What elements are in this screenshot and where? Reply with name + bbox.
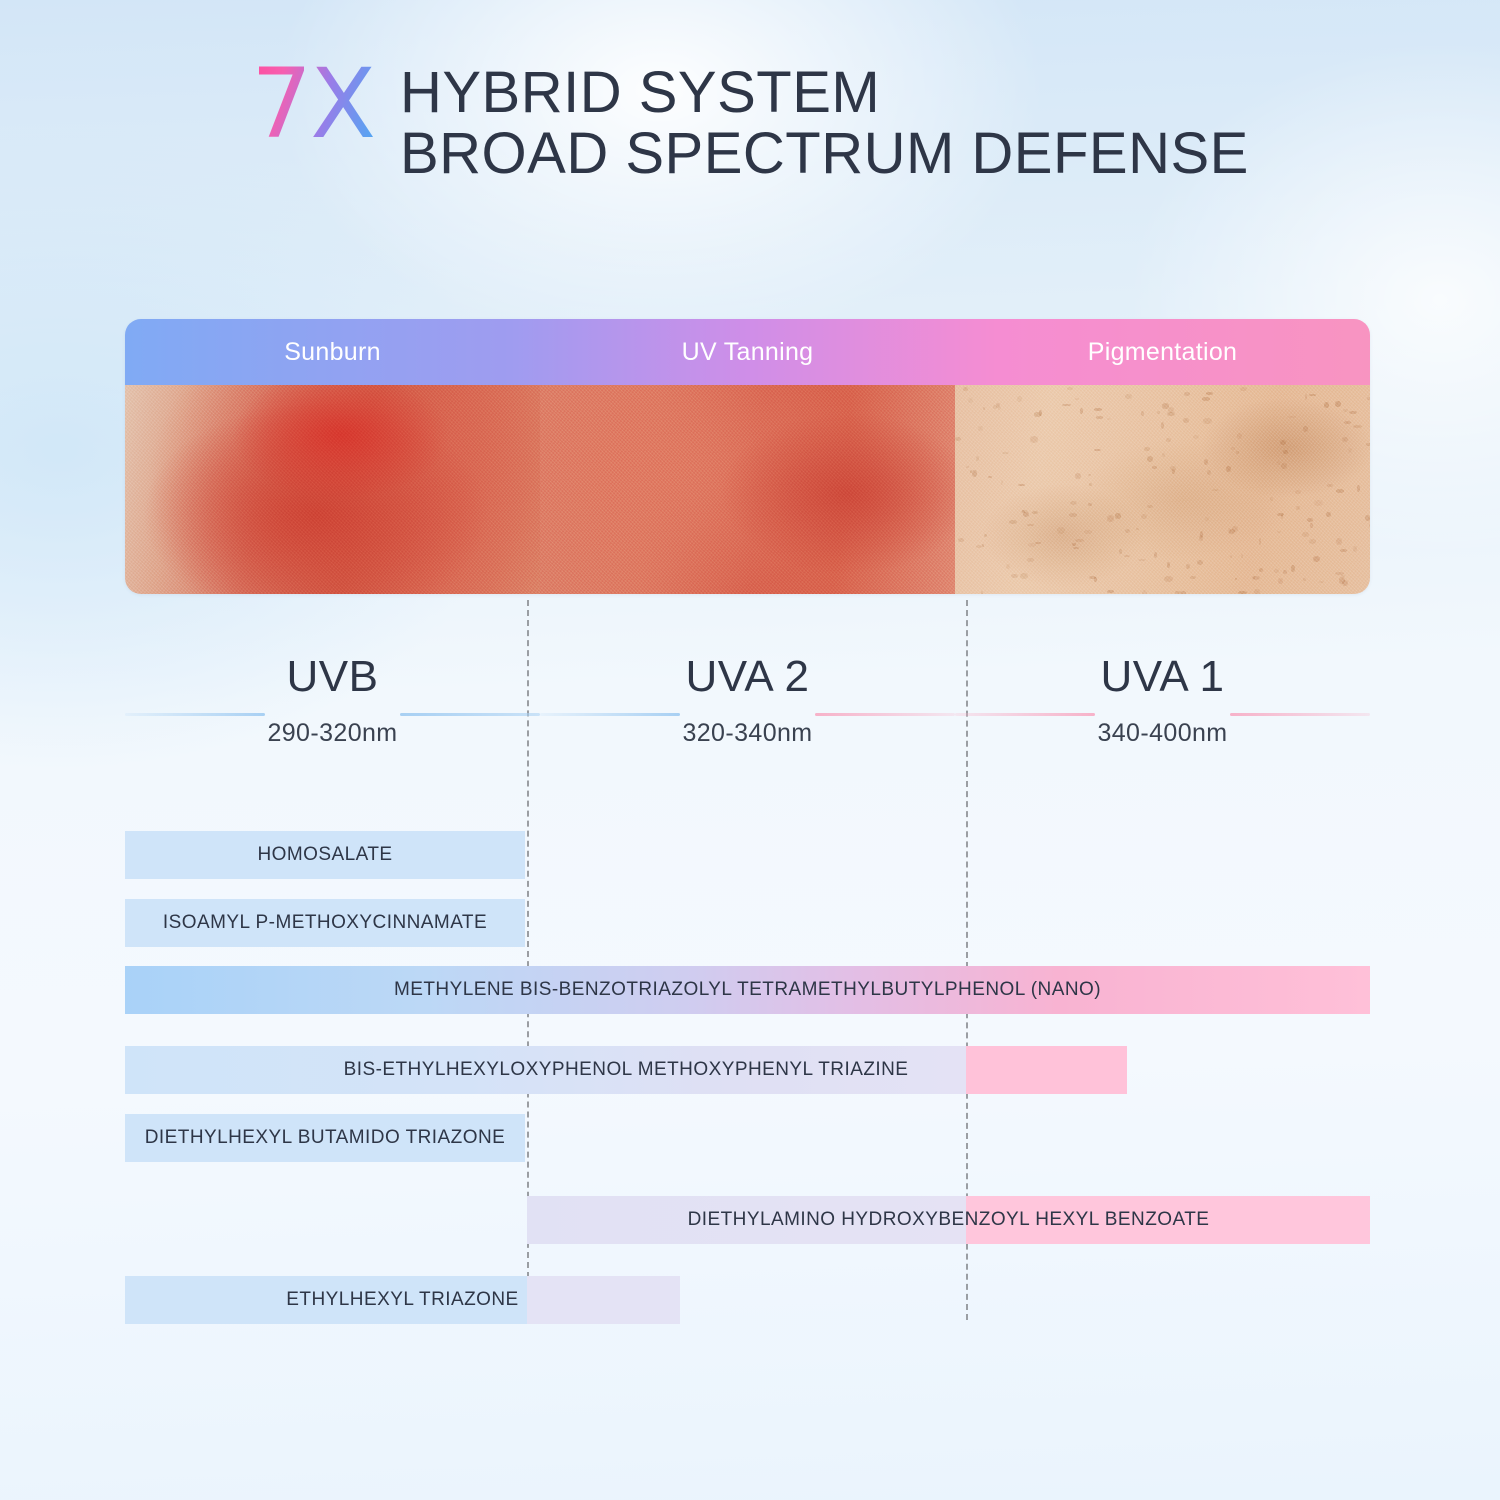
ingredient-coverage-chart: HOMOSALATEISOAMYL P-METHOXYCINNAMATEMETH… bbox=[0, 0, 1500, 1500]
ingredient-name: DIETHYLHEXYL BUTAMIDO TRIAZONE bbox=[125, 1127, 525, 1149]
ingredient-name: ETHYLHEXYL TRIAZONE bbox=[125, 1289, 680, 1311]
ingredient-name: BIS-ETHYLHEXYLOXYPHENOL METHOXYPHENYL TR… bbox=[125, 1059, 1127, 1081]
ingredient-bar: DIETHYLAMINO HYDROXYBENZOYL HEXYL BENZOA… bbox=[527, 1196, 1370, 1244]
ingredient-name: DIETHYLAMINO HYDROXYBENZOYL HEXYL BENZOA… bbox=[527, 1209, 1370, 1231]
ingredient-name: HOMOSALATE bbox=[125, 844, 525, 866]
ingredient-name: ISOAMYL P-METHOXYCINNAMATE bbox=[125, 912, 525, 934]
ingredient-bar: ISOAMYL P-METHOXYCINNAMATE bbox=[125, 899, 525, 947]
ingredient-bar: HOMOSALATE bbox=[125, 831, 525, 879]
infographic-page: 7X HYBRID SYSTEM BROAD SPECTRUM DEFENSE … bbox=[0, 0, 1500, 1500]
ingredient-name: METHYLENE BIS-BENZOTRIAZOLYL TETRAMETHYL… bbox=[125, 979, 1370, 1001]
ingredient-bar: DIETHYLHEXYL BUTAMIDO TRIAZONE bbox=[125, 1114, 525, 1162]
ingredient-bar: ETHYLHEXYL TRIAZONE bbox=[125, 1276, 680, 1324]
ingredient-bar: METHYLENE BIS-BENZOTRIAZOLYL TETRAMETHYL… bbox=[125, 966, 1370, 1014]
ingredient-bar: BIS-ETHYLHEXYLOXYPHENOL METHOXYPHENYL TR… bbox=[125, 1046, 1127, 1094]
